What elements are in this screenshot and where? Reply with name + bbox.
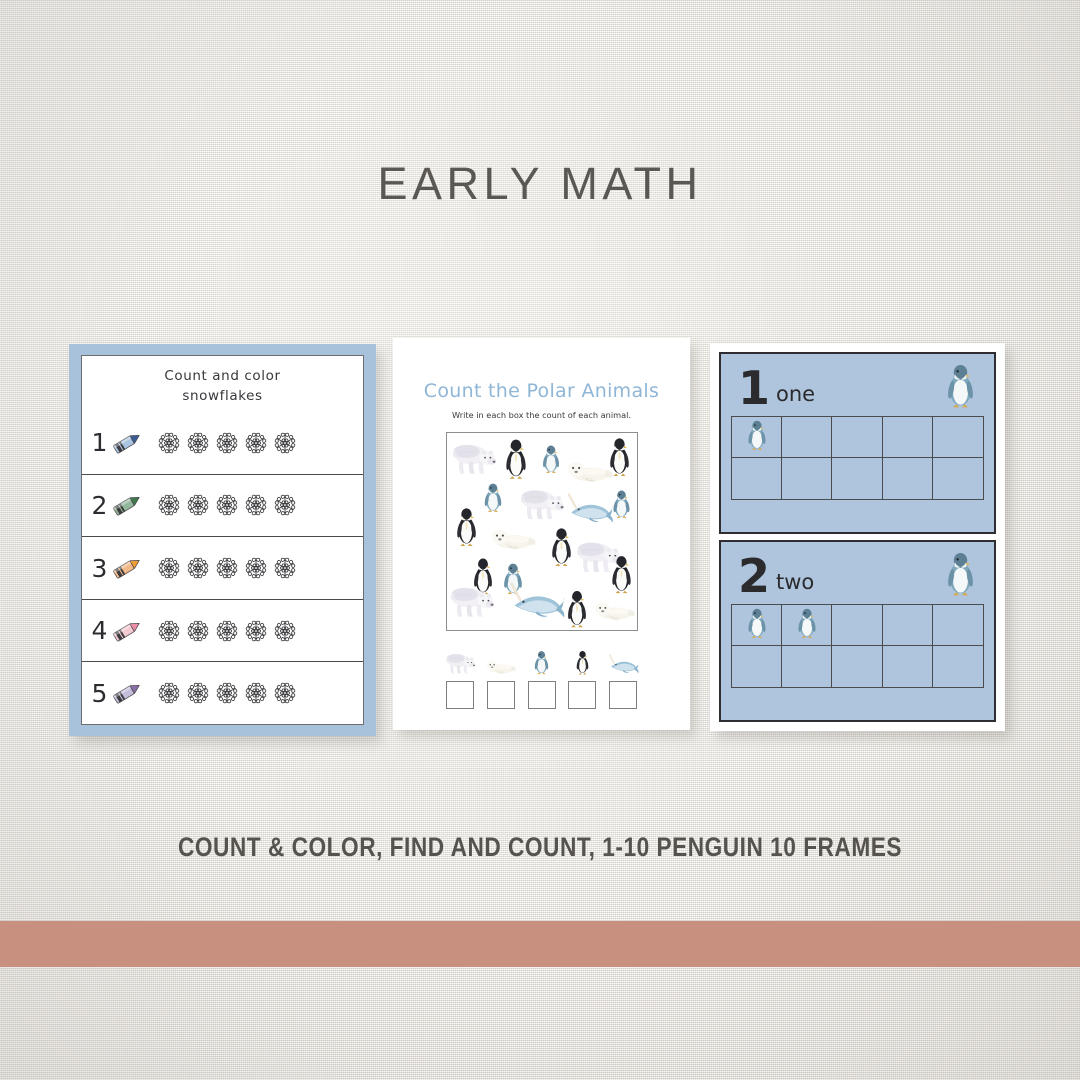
snowflake-icon[interactable] [185, 680, 211, 706]
worksheet-paper: Count and color snowflakes 1 [81, 355, 364, 725]
ten-frame-card[interactable]: 2two [719, 540, 996, 722]
ten-frame-cell[interactable] [732, 417, 782, 458]
emperor-penguin-icon [567, 648, 598, 675]
emperor-penguin-icon [454, 505, 479, 547]
row-number: 1 [91, 430, 108, 455]
snowflake-icon[interactable] [185, 618, 211, 644]
ten-frame-cell[interactable] [933, 646, 983, 687]
narwhal-icon [509, 577, 565, 621]
small-penguin-icon [481, 481, 505, 513]
polar-title: Count the Polar Animals [424, 380, 659, 402]
ten-frame-cell[interactable] [933, 417, 983, 458]
seal-icon [565, 457, 613, 485]
snowflake-icon[interactable] [272, 618, 298, 644]
row-number: 3 [91, 556, 108, 581]
answer-box[interactable] [568, 681, 596, 709]
count-color-row: 4 [82, 600, 363, 663]
ten-frame-cell[interactable] [832, 646, 882, 687]
count-color-row: 2 [82, 475, 363, 538]
emperor-penguin-icon [565, 588, 589, 628]
narwhal-icon [563, 489, 617, 525]
crayon-icon [109, 492, 145, 518]
heading-line-2: snowflakes [88, 387, 357, 407]
snowflake-icon[interactable] [243, 555, 269, 581]
seal-icon [593, 598, 635, 623]
snowflake-icon[interactable] [243, 430, 269, 456]
ten-frame-cell[interactable] [732, 605, 782, 646]
ten-frame-cell[interactable] [883, 417, 933, 458]
ten-frame-cell[interactable] [933, 458, 983, 499]
seal-icon [489, 525, 536, 552]
small-penguin-icon [610, 488, 633, 519]
legend-item [444, 648, 477, 709]
legend-item [607, 648, 640, 709]
crayon-icon [109, 430, 145, 456]
narwhal-icon [608, 648, 639, 675]
polar-bear-icon [445, 648, 476, 675]
ten-frame-cell[interactable] [832, 417, 882, 458]
snowflake-icon[interactable] [185, 492, 211, 518]
snowflake-icon[interactable] [243, 492, 269, 518]
snowflake-group [156, 492, 298, 518]
legend-item [525, 648, 558, 709]
snowflake-icon[interactable] [214, 492, 240, 518]
emperor-penguin-icon [549, 525, 574, 567]
snowflake-icon[interactable] [272, 430, 298, 456]
snowflake-icon[interactable] [156, 618, 182, 644]
snowflake-group [156, 555, 298, 581]
ten-frame-grid [731, 416, 984, 500]
crayon-icon [109, 680, 145, 706]
legend-item [566, 648, 599, 709]
ten-frame-digit: 2 [738, 555, 770, 597]
count-color-rows: 1 [82, 412, 363, 724]
answer-box[interactable] [528, 681, 556, 709]
worksheet-heading: Count and color snowflakes [82, 356, 363, 412]
ten-frame-card[interactable]: 1one [719, 352, 996, 534]
worksheet-count-polar-animals[interactable]: Count the Polar Animals Write in each bo… [393, 338, 690, 730]
count-color-row: 1 [82, 412, 363, 475]
animal-legend-row [444, 648, 640, 709]
ten-frame-cell[interactable] [782, 605, 832, 646]
ten-frame-grid [731, 604, 984, 688]
snowflake-icon[interactable] [272, 680, 298, 706]
animal-count-grid [446, 432, 638, 631]
ten-frame-cell[interactable] [732, 646, 782, 687]
ten-frame-cell[interactable] [732, 458, 782, 499]
heading-line-1: Count and color [88, 367, 357, 387]
snowflake-icon[interactable] [214, 555, 240, 581]
ten-frame-digit: 1 [738, 367, 770, 409]
ten-frame-cell[interactable] [883, 458, 933, 499]
small-penguin-icon [745, 418, 769, 456]
count-color-row: 5 [82, 662, 363, 724]
ten-frame-cell[interactable] [782, 646, 832, 687]
snowflake-icon[interactable] [272, 555, 298, 581]
crayon-icon [109, 555, 145, 581]
snowflake-icon[interactable] [214, 430, 240, 456]
page-title: EARLY MATH [0, 158, 1080, 210]
small-penguin-icon [539, 443, 563, 474]
answer-box[interactable] [487, 681, 515, 709]
snowflake-icon[interactable] [243, 680, 269, 706]
ten-frame-cell[interactable] [832, 605, 882, 646]
emperor-penguin-icon [607, 435, 632, 477]
legend-item [484, 648, 517, 709]
polar-bear-icon [449, 581, 495, 621]
ten-frame-word: one [776, 382, 815, 406]
small-penguin-icon [795, 606, 819, 644]
snowflake-icon[interactable] [214, 618, 240, 644]
polar-bear-icon [451, 439, 497, 477]
small-penguin-icon [745, 606, 769, 644]
row-number: 2 [91, 493, 108, 518]
ten-frame-cell[interactable] [782, 417, 832, 458]
seal-icon [485, 648, 516, 675]
answer-box[interactable] [446, 681, 474, 709]
accent-bar [0, 921, 1080, 967]
count-color-row: 3 [82, 537, 363, 600]
snowflake-icon[interactable] [156, 555, 182, 581]
ten-frame-word: two [776, 570, 814, 594]
emperor-penguin-icon [503, 436, 529, 480]
emperor-penguin-icon [609, 553, 634, 594]
snowflake-group [156, 618, 298, 644]
small-penguin-icon [526, 648, 557, 675]
snowflake-group [156, 430, 298, 456]
ten-frame-cell[interactable] [883, 605, 933, 646]
polar-bear-icon [519, 485, 565, 522]
ten-frame-cell[interactable] [933, 605, 983, 646]
answer-box[interactable] [609, 681, 637, 709]
worksheet-penguin-ten-frames[interactable]: 1one 2two [710, 343, 1005, 731]
snowflake-icon[interactable] [272, 492, 298, 518]
polar-subtitle: Write in each box the count of each anim… [452, 410, 631, 420]
ten-frame-cell[interactable] [832, 458, 882, 499]
snowflake-group [156, 680, 298, 706]
ten-frame-cell[interactable] [782, 458, 832, 499]
row-number: 5 [91, 681, 108, 706]
snowflake-icon[interactable] [156, 680, 182, 706]
row-number: 4 [91, 618, 108, 643]
snowflake-icon[interactable] [243, 618, 269, 644]
small-penguin-icon [943, 549, 978, 597]
small-penguin-icon [943, 361, 978, 409]
ten-frame-cell[interactable] [883, 646, 933, 687]
snowflake-icon[interactable] [185, 430, 211, 456]
caption-text: COUNT & COLOR, FIND AND COUNT, 1-10 PENG… [86, 832, 993, 863]
snowflake-icon[interactable] [156, 430, 182, 456]
crayon-icon [109, 618, 145, 644]
snowflake-icon[interactable] [185, 555, 211, 581]
snowflake-icon[interactable] [156, 492, 182, 518]
worksheet-count-and-color[interactable]: Count and color snowflakes 1 [69, 344, 376, 736]
snowflake-icon[interactable] [214, 680, 240, 706]
